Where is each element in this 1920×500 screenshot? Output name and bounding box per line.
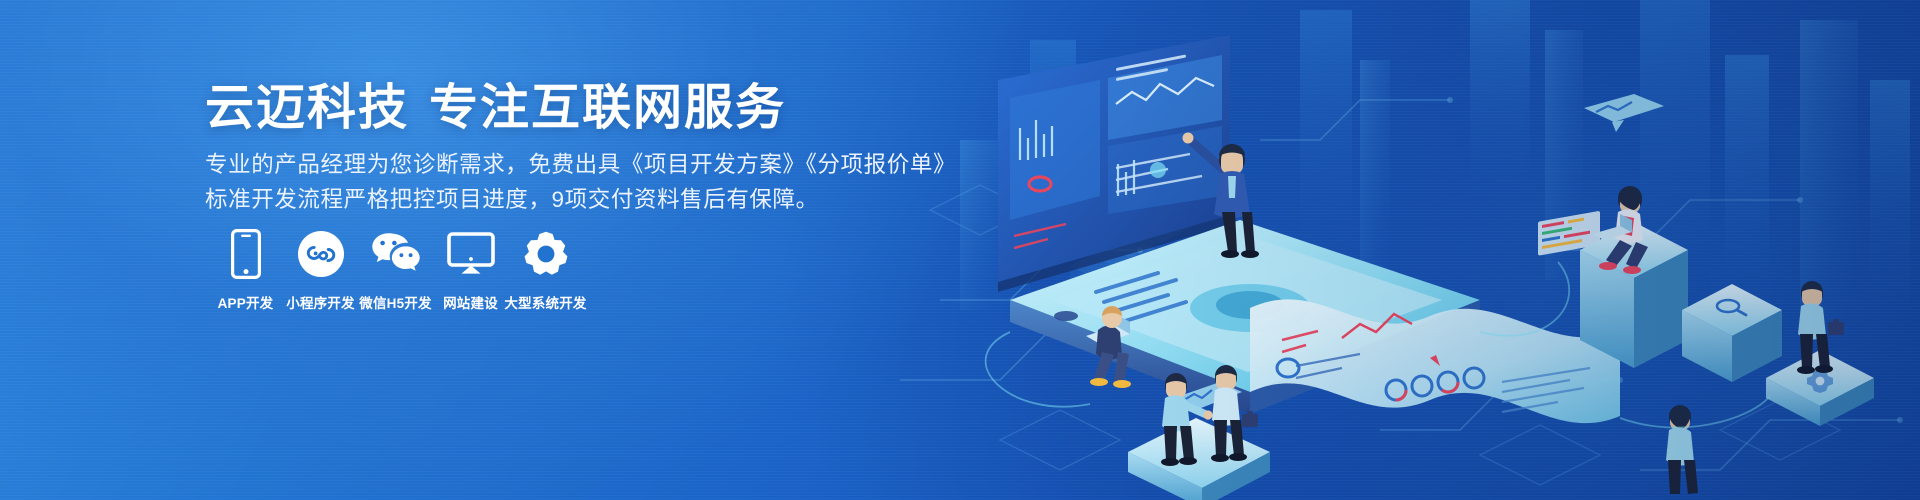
isometric-tech-teamwork-illustration xyxy=(890,0,1920,500)
service-item-website[interactable]: 网站建设 xyxy=(433,228,508,312)
promo-banner: 云迈科技专注互联网服务 专业的产品经理为您诊断需求，免费出具《项目开发方案》《分… xyxy=(0,0,1920,500)
service-label: 微信H5开发 xyxy=(359,292,431,312)
gear-icon xyxy=(523,228,569,280)
service-item-large-system[interactable]: 大型系统开发 xyxy=(508,228,583,312)
service-icon-row: APP开发 小程序开发 xyxy=(208,228,583,312)
subtitle-line-1: 专业的产品经理为您诊断需求，免费出具《项目开发方案》《分项报价单》 xyxy=(205,147,956,179)
service-label: 网站建设 xyxy=(443,292,498,312)
service-item-wechat-h5[interactable]: 微信H5开发 xyxy=(358,228,433,312)
person-standing-right xyxy=(1666,405,1698,494)
service-item-mini-program[interactable]: 小程序开发 xyxy=(283,228,358,312)
headline-brand: 云迈科技 xyxy=(205,81,409,135)
mini-program-icon xyxy=(297,228,345,280)
headline-tagline: 专注互联网服务 xyxy=(429,81,786,135)
service-label: 小程序开发 xyxy=(286,292,355,312)
banner-text-content: 云迈科技专注互联网服务 专业的产品经理为您诊断需求，免费出具《项目开发方案》《分… xyxy=(205,0,965,500)
page-title: 云迈科技专注互联网服务 xyxy=(205,68,786,139)
monitor-icon xyxy=(447,228,495,280)
wechat-icon xyxy=(370,228,422,280)
service-label: 大型系统开发 xyxy=(504,292,586,312)
subtitle-line-2: 标准开发流程严格把控项目进度，9项交付资料售后有保障。 xyxy=(205,182,819,214)
service-item-app[interactable]: APP开发 xyxy=(208,228,283,312)
chat-bubble xyxy=(1584,94,1664,132)
service-label: APP开发 xyxy=(218,292,274,312)
search-cube xyxy=(1682,284,1782,382)
mobile-phone-icon xyxy=(231,228,261,280)
